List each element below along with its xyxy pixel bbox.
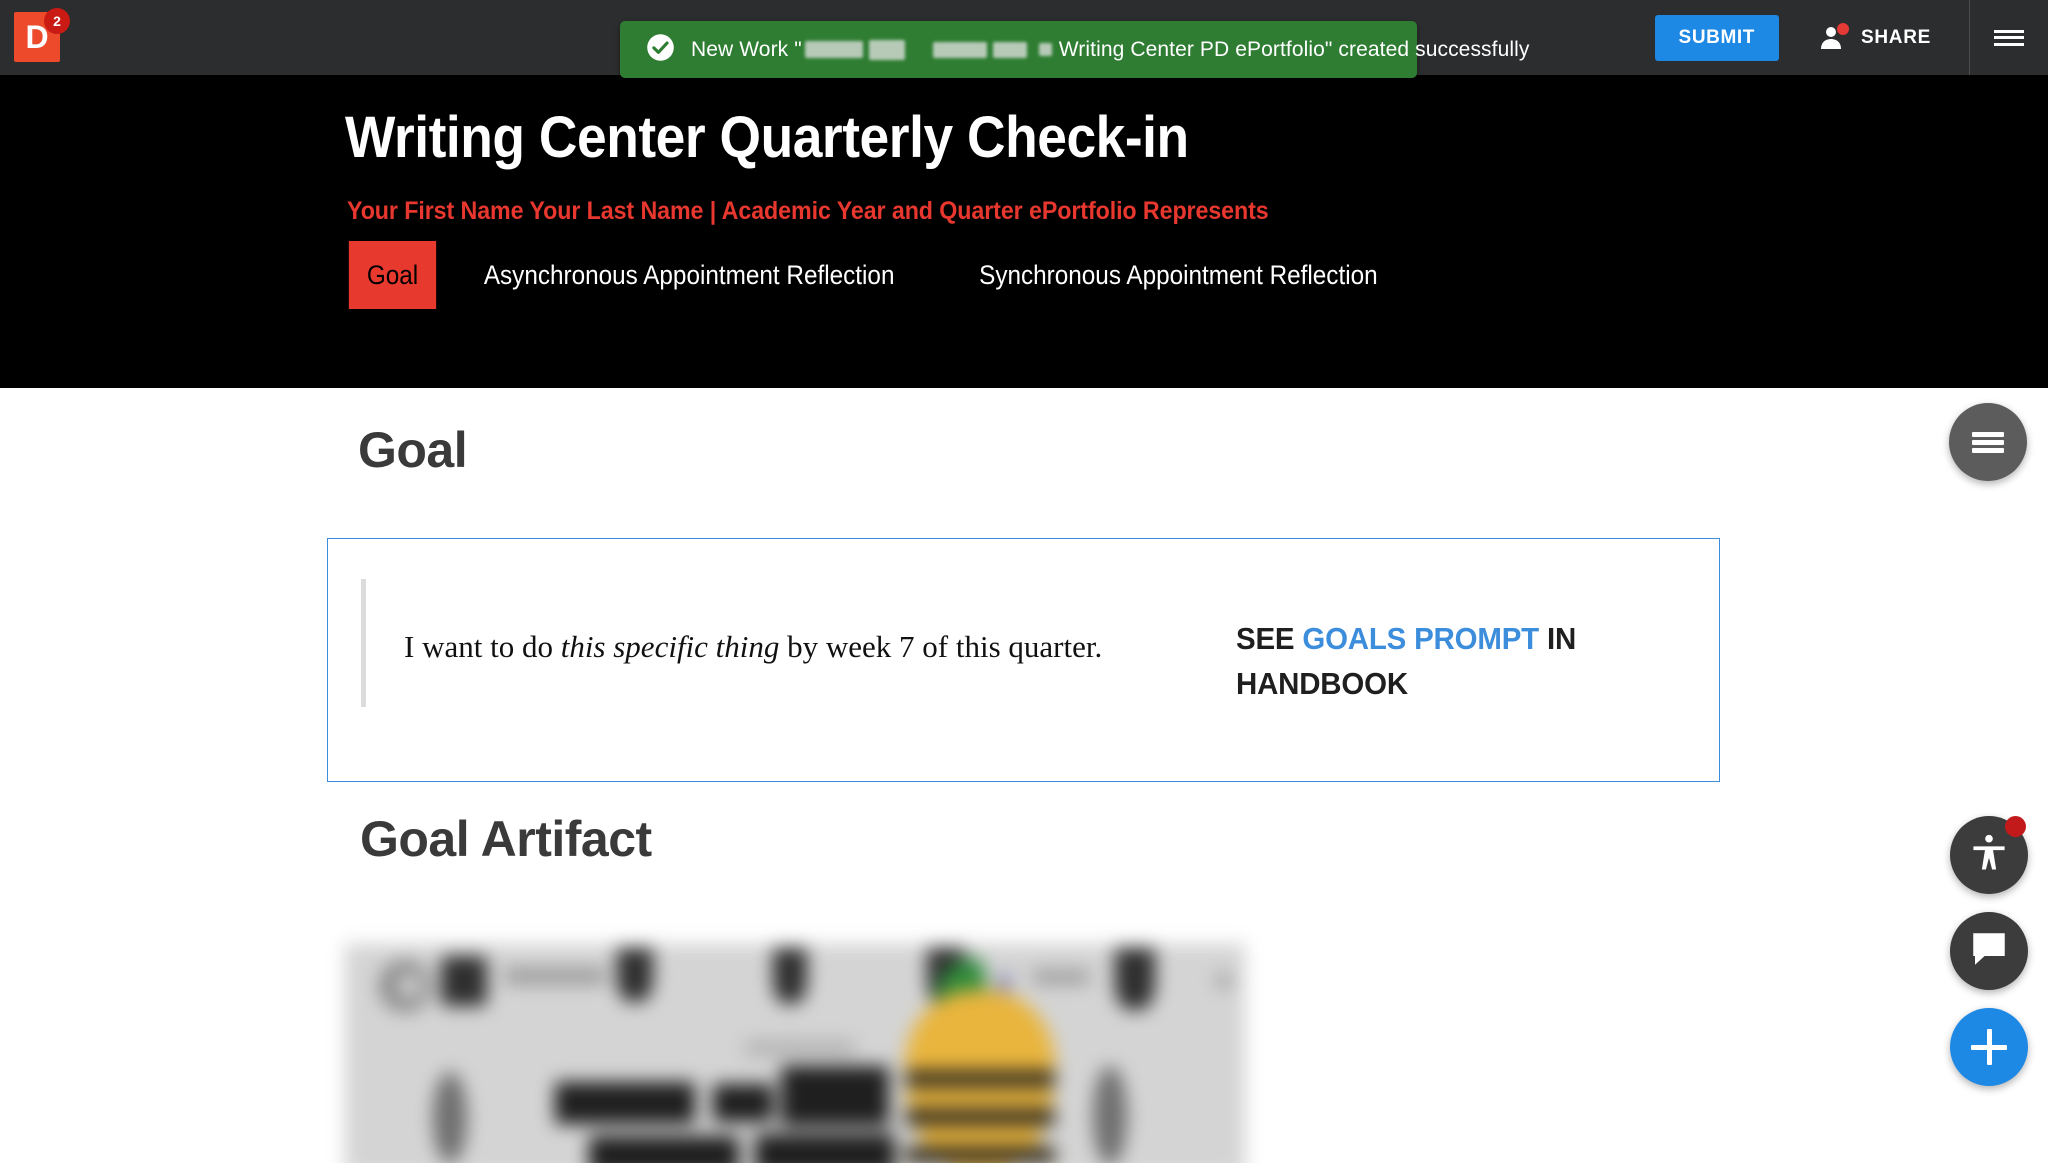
artifact-blur-shape [713, 1084, 773, 1122]
goal-content-box[interactable]: I want to do this specific thing by week… [327, 538, 1720, 782]
goal-section-heading: Goal [358, 421, 467, 479]
artifact-apple-stripe [905, 1070, 1055, 1088]
app-root: D 2 SUBMIT SHARE [0, 0, 2048, 1163]
hamburger-icon [1972, 429, 2004, 456]
artifact-blur-shape [441, 956, 487, 1006]
submit-button[interactable]: SUBMIT [1655, 15, 1779, 61]
hamburger-bar [1972, 440, 2004, 445]
app-logo[interactable]: D 2 [14, 12, 70, 68]
redacted-block [1039, 43, 1052, 56]
tab-synchronous-appointment-reflection[interactable]: Synchronous Appointment Reflection [961, 241, 1396, 309]
hamburger-bar [1994, 43, 2024, 46]
artifact-blur-shape [555, 1082, 695, 1124]
share-button[interactable]: SHARE [1819, 23, 1931, 53]
redacted-block [805, 41, 863, 58]
handbook-before: SEE [1236, 621, 1302, 656]
add-fab[interactable] [1950, 1008, 2028, 1086]
toast-suffix: Writing Center PD ePortfolio" created su… [1059, 38, 1530, 61]
redacted-block [933, 42, 987, 58]
accessibility-fab[interactable] [1950, 816, 2028, 894]
hamburger-bar [1994, 36, 2024, 39]
accessibility-icon [1967, 831, 2011, 880]
tab-asynchronous-appointment-reflection[interactable]: Asynchronous Appointment Reflection [466, 241, 913, 309]
artifact-blur-shape [589, 1136, 739, 1163]
success-toast[interactable]: New Work "Writing Center PD ePortfolio" … [620, 21, 1417, 78]
goal-text-before: I want to do [404, 629, 561, 664]
artifact-blur-shape [1115, 948, 1155, 1010]
toast-prefix: New Work " [691, 38, 802, 61]
hamburger-bar [1994, 30, 2024, 33]
artifact-blur-shape [617, 948, 653, 1002]
artifact-blur-shape [781, 1066, 889, 1126]
goal-text-italic: this specific thing [561, 629, 780, 664]
chat-bubble-icon [1968, 928, 2010, 975]
plus-icon [1971, 1029, 2007, 1065]
logo-notification-badge: 2 [44, 8, 70, 34]
goal-text-after: by week 7 of this quarter. [779, 629, 1102, 664]
top-toolbar-actions: SUBMIT SHARE [1655, 0, 2048, 75]
artifact-blur-shape [1093, 1066, 1127, 1163]
accessibility-notification-badge [2005, 816, 2026, 837]
redacted-block [993, 42, 1027, 58]
share-label: SHARE [1861, 27, 1931, 49]
person-share-icon [1819, 23, 1849, 53]
section-tabs: Goal Asynchronous Appointment Reflection… [344, 241, 1420, 309]
redacted-block [869, 40, 905, 60]
toast-message: New Work "Writing Center PD ePortfolio" … [691, 38, 1530, 62]
artifact-apple-stripe [905, 1146, 1055, 1163]
chat-fab[interactable] [1950, 912, 2028, 990]
hamburger-icon[interactable] [1970, 0, 2048, 75]
artifact-blur-shape [1033, 970, 1089, 984]
tab-goal[interactable]: Goal [349, 241, 436, 309]
artifact-apple-stripe [905, 1108, 1055, 1126]
goal-artifact-heading: Goal Artifact [360, 810, 652, 868]
goals-prompt-link[interactable]: GOALS PROMPT [1302, 621, 1539, 656]
page-subtitle: Your First Name Your Last Name | Academi… [347, 197, 1269, 226]
artifact-blur-shape [745, 1040, 855, 1056]
handbook-callout: SEE GOALS PROMPT IN HANDBOOK [1236, 579, 1668, 707]
goal-artifact-thumbnail[interactable] [345, 944, 1245, 1163]
page-title: Writing Center Quarterly Check-in [345, 104, 1189, 171]
goal-statement-text: I want to do this specific thing by week… [366, 579, 1236, 667]
artifact-blur-shape [1217, 974, 1231, 988]
artifact-blur-shape [773, 948, 807, 1004]
hamburger-bar [1972, 448, 2004, 453]
menu-fab[interactable] [1949, 403, 2027, 481]
page-hero: Writing Center Quarterly Check-in Your F… [0, 75, 2048, 388]
hamburger-bar [1972, 432, 2004, 437]
check-circle-icon [646, 33, 675, 67]
artifact-blur-shape [433, 1072, 467, 1163]
artifact-blur-shape [505, 968, 605, 984]
artifact-blur-shape [397, 974, 421, 998]
artifact-blur-shape [755, 1134, 895, 1163]
goal-box-inner: I want to do this specific thing by week… [361, 579, 1691, 749]
